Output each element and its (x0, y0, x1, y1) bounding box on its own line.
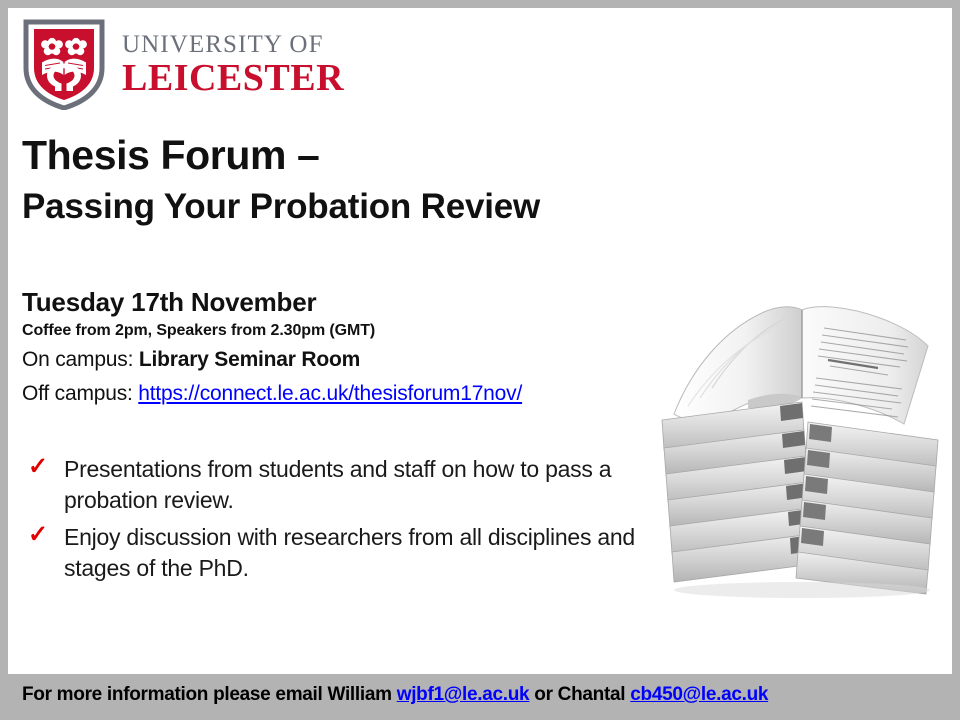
off-campus-line: Off campus: https://connect.le.ac.uk/the… (22, 382, 522, 406)
off-campus-label: Off campus: (22, 382, 138, 405)
list-item: ✓ Presentations from students and staff … (22, 454, 662, 516)
page-title-line2: Passing Your Probation Review (22, 189, 540, 226)
stack-of-books-photo (652, 272, 952, 602)
leicester-shield-icon (22, 18, 106, 110)
bullet-list: ✓ Presentations from students and staff … (22, 454, 662, 590)
list-item-text: Enjoy discussion with researchers from a… (64, 524, 635, 581)
footer-email-william[interactable]: wjbf1@le.ac.uk (397, 684, 530, 705)
on-campus-venue: Library Seminar Room (139, 348, 360, 371)
footer-contact-text: For more information please email Willia… (22, 684, 768, 706)
on-campus-label: On campus: (22, 348, 139, 371)
event-date: Tuesday 17th November (22, 287, 316, 318)
event-times: Coffee from 2pm, Speakers from 2.30pm (G… (22, 322, 375, 340)
logo-line-university-of: UNIVERSITY OF (122, 32, 362, 57)
logo-line-leicester: LEICESTER (122, 59, 362, 99)
footer-bar: For more information please email Willia… (8, 674, 952, 712)
footer-email-chantal[interactable]: cb450@le.ac.uk (630, 684, 768, 705)
footer-middle: or Chantal (529, 684, 630, 705)
page-title-line1: Thesis Forum – (22, 134, 319, 177)
footer-prefix: For more information please email Willia… (22, 684, 397, 705)
slide-content-area: UNIVERSITY OF LEICESTER Thesis Forum – P… (8, 8, 952, 712)
check-icon: ✓ (28, 455, 48, 479)
poster-slide: UNIVERSITY OF LEICESTER Thesis Forum – P… (0, 0, 960, 720)
list-item: ✓ Enjoy discussion with researchers from… (22, 522, 662, 584)
logo-wordmark: UNIVERSITY OF LEICESTER (122, 32, 362, 99)
list-item-text: Presentations from students and staff on… (64, 456, 611, 513)
check-icon: ✓ (28, 523, 48, 547)
on-campus-line: On campus: Library Seminar Room (22, 348, 360, 372)
university-logo: UNIVERSITY OF LEICESTER (22, 16, 362, 112)
off-campus-link[interactable]: https://connect.le.ac.uk/thesisforum17no… (138, 382, 522, 405)
